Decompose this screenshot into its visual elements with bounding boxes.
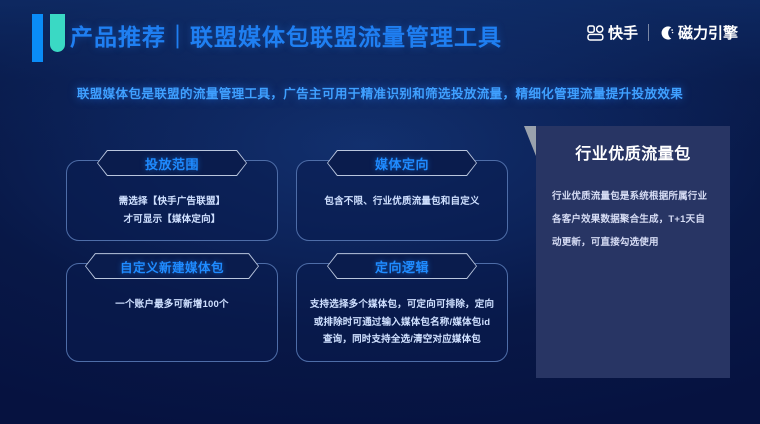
bar-mark-teal-icon <box>50 14 65 52</box>
card-custom-media-package[interactable]: 自定义新建媒体包 一个账户最多可新增100个 <box>66 263 278 362</box>
card-body-text: 一个账户最多可新增100个 <box>75 296 269 314</box>
brand-divider <box>648 24 649 41</box>
subtitle-text: 联盟媒体包是联盟的流量管理工具，广告主可用于精准识别和筛选投放流量，精细化管理流… <box>0 83 760 102</box>
bar-mark-blue-icon <box>32 14 43 62</box>
card-title-banner: 定向逻辑 <box>327 253 477 279</box>
chili-engine-moon-icon <box>659 25 675 41</box>
slide-root: 产品推荐｜联盟媒体包联盟流量管理工具 快手 磁力引擎 <box>0 0 760 424</box>
header-logo-marks <box>32 14 66 62</box>
panel-fold-corner-icon <box>524 126 536 156</box>
kuaishou-logo-icon <box>587 25 604 41</box>
kuaishou-brand-label: 快手 <box>608 22 638 43</box>
card-title-label: 媒体定向 <box>375 154 429 173</box>
card-title-banner: 自定义新建媒体包 <box>85 253 259 279</box>
industry-quality-traffic-panel: 行业优质流量包 行业优质流量包是系统根据所属行业各客户效果数据聚合生成，T+1天… <box>536 126 730 378</box>
page-title: 产品推荐｜联盟媒体包联盟流量管理工具 <box>70 18 502 52</box>
slide-header: 产品推荐｜联盟媒体包联盟流量管理工具 快手 磁力引擎 <box>0 0 760 68</box>
card-body-text: 支持选择多个媒体包，可定向可排除，定向或排除时可通过输入媒体包名称/媒体包id查… <box>305 296 499 349</box>
card-title-label: 定向逻辑 <box>375 257 429 276</box>
card-row-top: 投放范围 需选择【快手广告联盟】 才可显示【媒体定向】 媒体定向 包含不限、行业… <box>66 160 536 241</box>
feature-card-grid: 投放范围 需选择【快手广告联盟】 才可显示【媒体定向】 媒体定向 包含不限、行业… <box>66 160 536 362</box>
card-media-targeting[interactable]: 媒体定向 包含不限、行业优质流量包和自定义 <box>296 160 508 241</box>
card-delivery-scope[interactable]: 投放范围 需选择【快手广告联盟】 才可显示【媒体定向】 <box>66 160 278 241</box>
panel-title: 行业优质流量包 <box>552 144 714 167</box>
card-title-banner: 媒体定向 <box>327 150 477 176</box>
chili-engine-brand: 磁力引擎 <box>659 22 738 43</box>
card-title-label: 自定义新建媒体包 <box>120 257 224 276</box>
card-targeting-logic[interactable]: 定向逻辑 支持选择多个媒体包，可定向可排除，定向或排除时可通过输入媒体包名称/媒… <box>296 263 508 362</box>
card-title-banner: 投放范围 <box>97 150 247 176</box>
chili-engine-brand-label: 磁力引擎 <box>678 22 738 43</box>
kuaishou-brand: 快手 <box>587 22 638 43</box>
card-row-bottom: 自定义新建媒体包 一个账户最多可新增100个 定向逻辑 支持选择多个媒体包，可定… <box>66 263 536 362</box>
card-body-text: 包含不限、行业优质流量包和自定义 <box>305 193 499 211</box>
brand-lockup: 快手 磁力引擎 <box>587 22 738 43</box>
card-body-text: 需选择【快手广告联盟】 才可显示【媒体定向】 <box>75 193 269 228</box>
card-title-label: 投放范围 <box>145 154 199 173</box>
panel-description: 行业优质流量包是系统根据所属行业各客户效果数据聚合生成，T+1天自动更新，可直接… <box>552 185 714 255</box>
